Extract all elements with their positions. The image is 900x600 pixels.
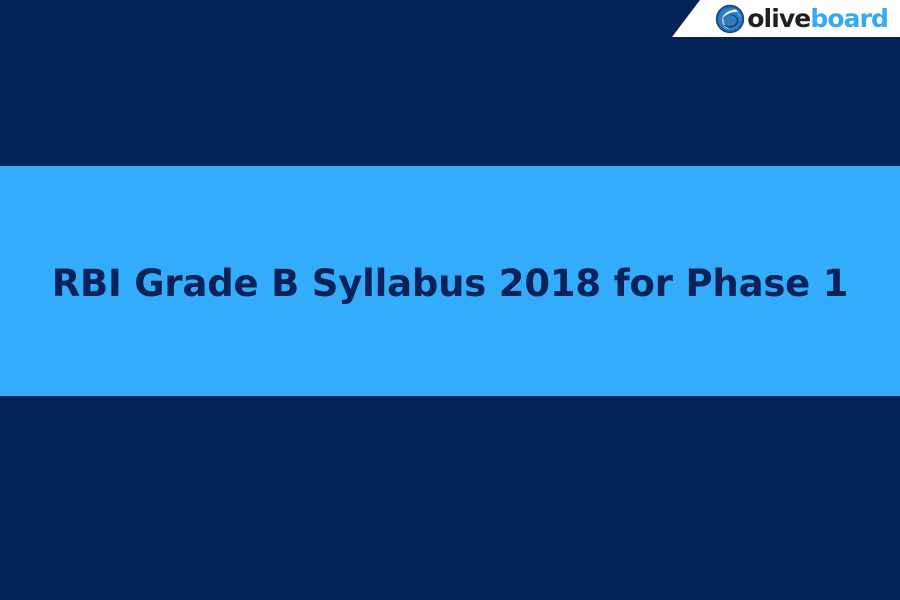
bottom-navy-band	[0, 396, 900, 600]
logo-word-olive: olive	[747, 4, 810, 33]
oliveboard-swirl-icon	[715, 4, 745, 34]
logo-banner[interactable]: oliveboard	[672, 0, 900, 37]
logo-word-board: board	[810, 4, 888, 33]
logo-lockup: oliveboard	[715, 4, 888, 34]
banner-canvas: oliveboard RBI Grade B Syllabus 2018 for…	[0, 0, 900, 600]
logo-wordmark: oliveboard	[747, 6, 888, 31]
page-title: RBI Grade B Syllabus 2018 for Phase 1	[0, 259, 900, 309]
